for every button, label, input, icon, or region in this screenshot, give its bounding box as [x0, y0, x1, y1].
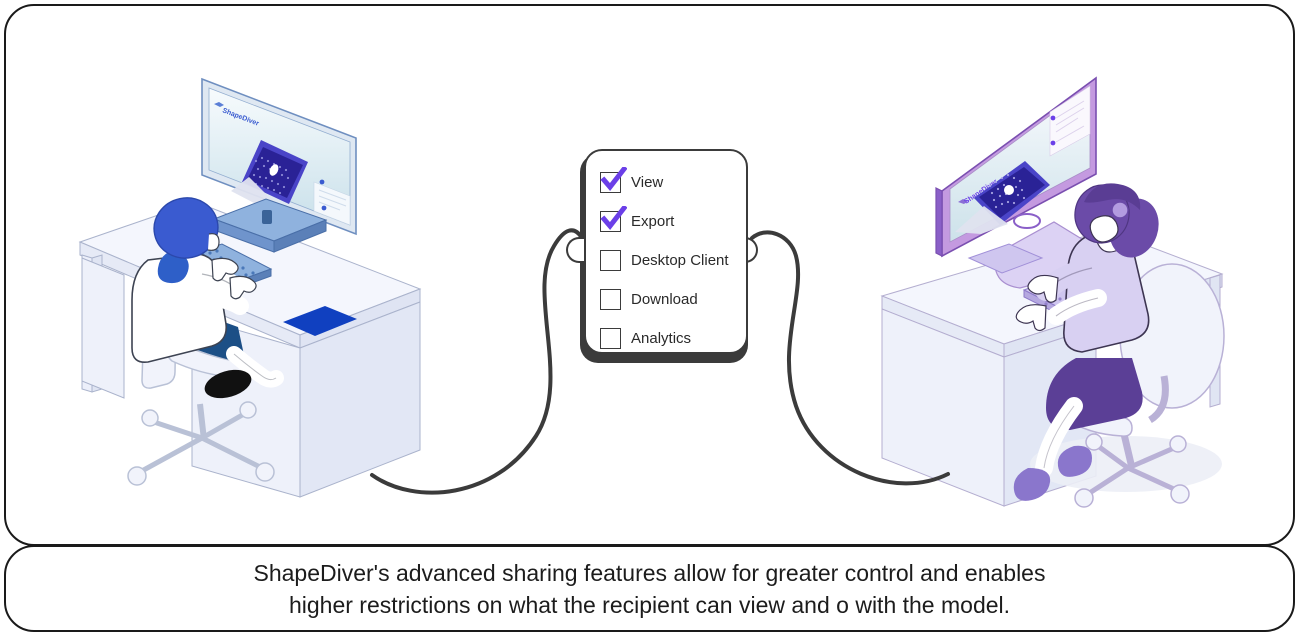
permissions-list: View Export Desktop Client D — [584, 149, 748, 354]
permission-label-desktop-client: Desktop Client — [631, 252, 729, 269]
illustration-root: ShapeDiver — [0, 0, 1299, 636]
checkbox-unchecked-icon[interactable] — [600, 328, 621, 349]
caption-line-2: higher restrictions on what the recipien… — [289, 589, 1010, 621]
checkbox-checked-icon[interactable] — [600, 172, 621, 193]
left-workstation: ShapeDiver — [80, 79, 420, 497]
checkbox-unchecked-icon[interactable] — [600, 250, 621, 271]
left-desk — [80, 202, 420, 497]
caption-line-1: ShapeDiver's advanced sharing features a… — [254, 557, 1046, 589]
left-monitor: ShapeDiver — [202, 79, 356, 252]
permission-row-analytics[interactable]: Analytics — [600, 319, 746, 358]
caption-frame: ShapeDiver's advanced sharing features a… — [4, 545, 1295, 632]
permission-label-download: Download — [631, 291, 698, 308]
permission-row-desktop-client[interactable]: Desktop Client — [600, 241, 746, 280]
permission-label-export: Export — [631, 213, 674, 230]
permission-label-analytics: Analytics — [631, 330, 691, 347]
permissions-panel[interactable]: View Export Desktop Client D — [580, 149, 748, 358]
permission-label-view: View — [631, 174, 663, 191]
right-workstation: ShapeDiver — [882, 78, 1224, 507]
caption: ShapeDiver's advanced sharing features a… — [6, 547, 1293, 630]
illustration-frame: ShapeDiver — [4, 4, 1295, 546]
permission-row-export[interactable]: Export — [600, 202, 746, 241]
permission-row-view[interactable]: View — [600, 163, 746, 202]
permission-row-download[interactable]: Download — [600, 280, 746, 319]
checkbox-unchecked-icon[interactable] — [600, 289, 621, 310]
checkbox-checked-icon[interactable] — [600, 211, 621, 232]
